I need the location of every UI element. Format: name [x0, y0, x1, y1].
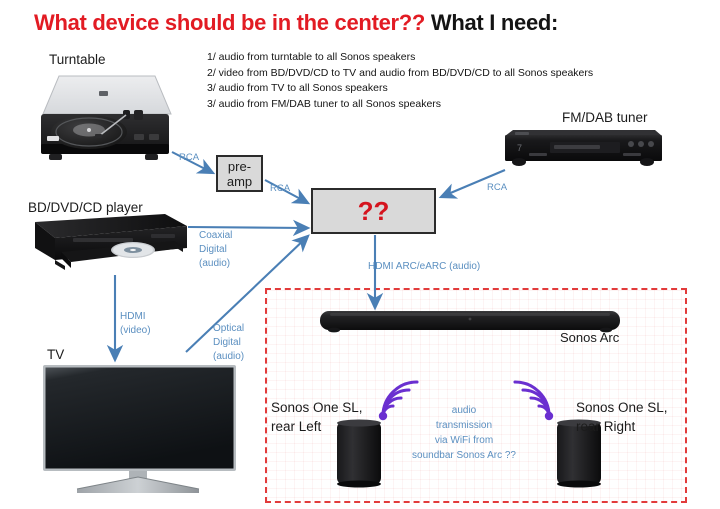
bd-player-image: [25, 208, 190, 278]
coaxial-line3: (audio): [199, 257, 232, 271]
svg-text:7: 7: [517, 143, 522, 153]
tuner-label: FM/DAB tuner: [562, 110, 648, 125]
speaker-right-label: Sonos One SL, rear Right: [576, 398, 668, 436]
preamp-label-line2: amp: [227, 174, 252, 189]
cable-label-rca-tuner: RCA: [487, 181, 507, 195]
title-question: What device should be in the center??: [34, 10, 425, 35]
cable-label-coaxial-digital: Coaxial Digital (audio): [199, 229, 232, 271]
turntable-image: [37, 70, 172, 170]
optical-line1: Optical: [213, 322, 244, 336]
tv-image: [43, 365, 236, 493]
cable-label-optical-digital: Optical Digital (audio): [213, 322, 244, 364]
arrow-bdplayer-coaxial-to-center: [188, 227, 308, 228]
wifi-transmission-note: audio transmission via WiFi from soundba…: [404, 403, 524, 463]
preamp-box: pre- amp: [216, 155, 263, 192]
speaker-right-label-line1: Sonos One SL,: [576, 398, 668, 417]
hdmi-line1: HDMI: [120, 310, 151, 324]
coaxial-line2: Digital: [199, 243, 232, 257]
soundbar-label: Sonos Arc: [560, 330, 619, 345]
wifi-note-line4: soundbar Sonos Arc ??: [404, 448, 524, 463]
coaxial-line1: Coaxial: [199, 229, 232, 243]
speaker-right-label-line2: rear Right: [576, 417, 668, 436]
optical-line2: Digital: [213, 336, 244, 350]
cable-label-hdmi-arc: HDMI ARC/eARC (audio): [368, 260, 480, 274]
tv-label: TV: [47, 347, 64, 362]
requirements-list: 1/ audio from turntable to all Sonos spe…: [207, 50, 677, 112]
turntable-label: Turntable: [49, 52, 106, 67]
speaker-left-label: Sonos One SL, rear Left: [271, 398, 363, 436]
center-question-marks: ??: [358, 198, 390, 224]
wifi-note-line1: audio: [404, 403, 524, 418]
cable-label-rca-preamp: RCA: [270, 182, 290, 196]
speaker-left-label-line1: Sonos One SL,: [271, 398, 363, 417]
requirement-item: 3/ audio from TV to all Sonos speakers: [207, 81, 677, 97]
cable-label-rca-turntable: RCA: [179, 151, 199, 165]
preamp-label-line1: pre-: [227, 159, 252, 174]
requirement-item: 2/ video from BD/DVD/CD to TV and audio …: [207, 66, 677, 82]
hdmi-line2: (video): [120, 324, 151, 338]
requirement-item: 1/ audio from turntable to all Sonos spe…: [207, 50, 677, 66]
page-title: What device should be in the center?? Wh…: [34, 10, 558, 36]
wifi-note-line3: via WiFi from: [404, 433, 524, 448]
title-need: What I need:: [431, 10, 558, 35]
optical-line3: (audio): [213, 350, 244, 364]
diagram-canvas: What device should be in the center?? Wh…: [0, 0, 720, 509]
cable-label-hdmi-video: HDMI (video): [120, 310, 151, 338]
bd-player-label: BD/DVD/CD player: [28, 200, 143, 215]
speaker-left-label-line2: rear Left: [271, 417, 363, 436]
fm-dab-tuner-image: 7: [505, 126, 662, 168]
center-device-unknown-box: ??: [311, 188, 436, 234]
wifi-note-line2: transmission: [404, 418, 524, 433]
